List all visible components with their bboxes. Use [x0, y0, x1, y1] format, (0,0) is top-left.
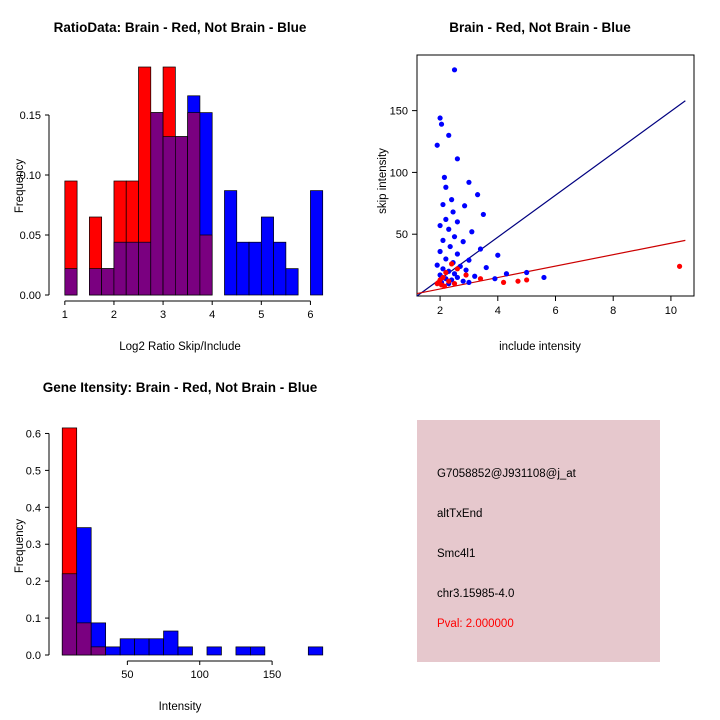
tick-label: 0.05 [20, 230, 41, 242]
scatter-point [455, 219, 460, 224]
scatter-point [443, 217, 448, 222]
scatter-point [443, 270, 448, 275]
scatter-point [472, 274, 477, 279]
tick-label: 150 [263, 669, 281, 681]
tick-label: 50 [396, 229, 408, 241]
scatter-point [443, 256, 448, 261]
tick-label: 0.2 [26, 576, 41, 588]
scatter-point [448, 244, 453, 249]
scatter-point [443, 185, 448, 190]
tick-label: 0.10 [20, 170, 41, 182]
info-gene-symbol: Smc4l1 [437, 548, 475, 560]
scatter-point [446, 133, 451, 138]
tick-label: 2 [437, 305, 443, 317]
tick-label: 0.0 [26, 650, 41, 662]
scatter-point [442, 284, 447, 289]
tick-label: 8 [610, 305, 616, 317]
scatter-point [466, 258, 471, 263]
hist-bar [250, 647, 264, 655]
hist-bar-overlap [91, 647, 105, 655]
hist-bar-overlap [65, 269, 77, 295]
scatter-plot: 50100150246810 [360, 0, 720, 360]
scatter-point [504, 271, 509, 276]
info-locus: chr3.15985-4.0 [437, 588, 514, 600]
scatter-point [450, 209, 455, 214]
hist-bar [149, 639, 163, 655]
figure-canvas: RatioData: Brain - Red, Not Brain - Blue… [0, 0, 720, 720]
scatter-point [478, 246, 483, 251]
scatter-point [437, 223, 442, 228]
hist-bar [261, 217, 273, 295]
info-pval: Pval: 2.000000 [437, 618, 514, 630]
scatter-point [455, 156, 460, 161]
scatter-point [541, 275, 546, 280]
panel-hist-gene: Gene Itensity: Brain - Red, Not Brain - … [0, 360, 360, 720]
scatter-point [452, 281, 457, 286]
scatter-point [455, 251, 460, 256]
tick-label: 0.1 [26, 613, 41, 625]
hist-bar [274, 242, 286, 295]
hist-bar-overlap [175, 137, 187, 295]
hist-bar-overlap [151, 113, 163, 295]
scatter-point [435, 263, 440, 268]
tick-label: 50 [121, 669, 133, 681]
scatter-point [524, 277, 529, 282]
scatter-point [524, 270, 529, 275]
scatter-point [446, 279, 451, 284]
scatter-point [463, 267, 468, 272]
scatter-point [481, 212, 486, 217]
hist-ratio-plot: 0.000.050.100.15123456 [0, 0, 360, 360]
scatter-point [466, 280, 471, 285]
tick-label: 3 [160, 309, 166, 321]
tick-label: 5 [258, 309, 264, 321]
scatter-point [469, 229, 474, 234]
tick-label: 0.6 [26, 428, 41, 440]
scatter-point [461, 279, 466, 284]
hist-bar [178, 647, 192, 655]
hist-bar-overlap [126, 242, 138, 295]
info-event-type: altTxEnd [437, 508, 482, 520]
hist-bar [207, 647, 221, 655]
tick-label: 1 [62, 309, 68, 321]
scatter-point [452, 67, 457, 72]
scatter-point [462, 203, 467, 208]
hist-bar [135, 639, 149, 655]
scatter-point [449, 261, 454, 266]
tick-label: 0.4 [26, 502, 41, 514]
scatter-point [452, 234, 457, 239]
scatter-point [492, 276, 497, 281]
tick-label: 0.5 [26, 465, 41, 477]
scatter-point [449, 197, 454, 202]
hist-bar-overlap [89, 269, 101, 295]
panel-scatter: Brain - Red, Not Brain - Blue include in… [360, 0, 720, 360]
tick-label: 4 [495, 305, 501, 317]
scatter-point [435, 143, 440, 148]
hist-gene-plot: 0.00.10.20.30.40.50.650100150 [0, 360, 360, 720]
hist-bar [308, 647, 322, 655]
hist-bar [249, 242, 261, 295]
hist-bar-overlap [114, 242, 126, 295]
tick-label: 100 [191, 669, 209, 681]
hist-bar-overlap [102, 269, 114, 295]
scatter-point [466, 180, 471, 185]
tick-label: 0.3 [26, 539, 41, 551]
scatter-point [495, 253, 500, 258]
tick-label: 10 [665, 305, 677, 317]
scatter-point [440, 202, 445, 207]
scatter-point [484, 265, 489, 270]
hist-bar [164, 631, 178, 655]
hist-bar [286, 269, 298, 295]
scatter-point [455, 266, 460, 271]
scatter-point [475, 192, 480, 197]
scatter-point [437, 115, 442, 120]
tick-label: 0.15 [20, 110, 41, 122]
tick-label: 6 [307, 309, 313, 321]
scatter-point [437, 249, 442, 254]
scatter-point [478, 276, 483, 281]
scatter-point [463, 272, 468, 277]
hist-bar [120, 639, 134, 655]
scatter-point [446, 227, 451, 232]
tick-label: 4 [209, 309, 215, 321]
tick-label: 100 [390, 167, 408, 179]
hist-bar-overlap [77, 623, 91, 655]
plot-border [417, 55, 694, 296]
scatter-point [461, 239, 466, 244]
scatter-point [677, 264, 682, 269]
panel-hist-ratio: RatioData: Brain - Red, Not Brain - Blue… [0, 0, 360, 360]
hist-bar [237, 242, 249, 295]
scatter-point [442, 175, 447, 180]
hist-bar-overlap [188, 113, 200, 295]
scatter-point [515, 279, 520, 284]
hist-bar [106, 647, 120, 655]
scatter-point [439, 122, 444, 127]
hist-bar-overlap [139, 242, 151, 295]
scatter-point [455, 275, 460, 280]
tick-label: 2 [111, 309, 117, 321]
tick-label: 0.00 [20, 290, 41, 302]
hist-bar [310, 191, 322, 295]
tick-label: 150 [390, 106, 408, 118]
scatter-point [501, 280, 506, 285]
hist-bar [236, 647, 250, 655]
hist-bar-overlap [200, 235, 212, 295]
hist-bar-overlap [163, 137, 175, 295]
scatter-point [440, 238, 445, 243]
hist-bar [224, 191, 236, 295]
info-probe-id: G7058852@J931108@j_at [437, 468, 576, 480]
tick-label: 6 [552, 305, 558, 317]
info-box: G7058852@J931108@j_at altTxEnd Smc4l1 ch… [417, 420, 660, 662]
hist-bar-overlap [62, 574, 76, 655]
